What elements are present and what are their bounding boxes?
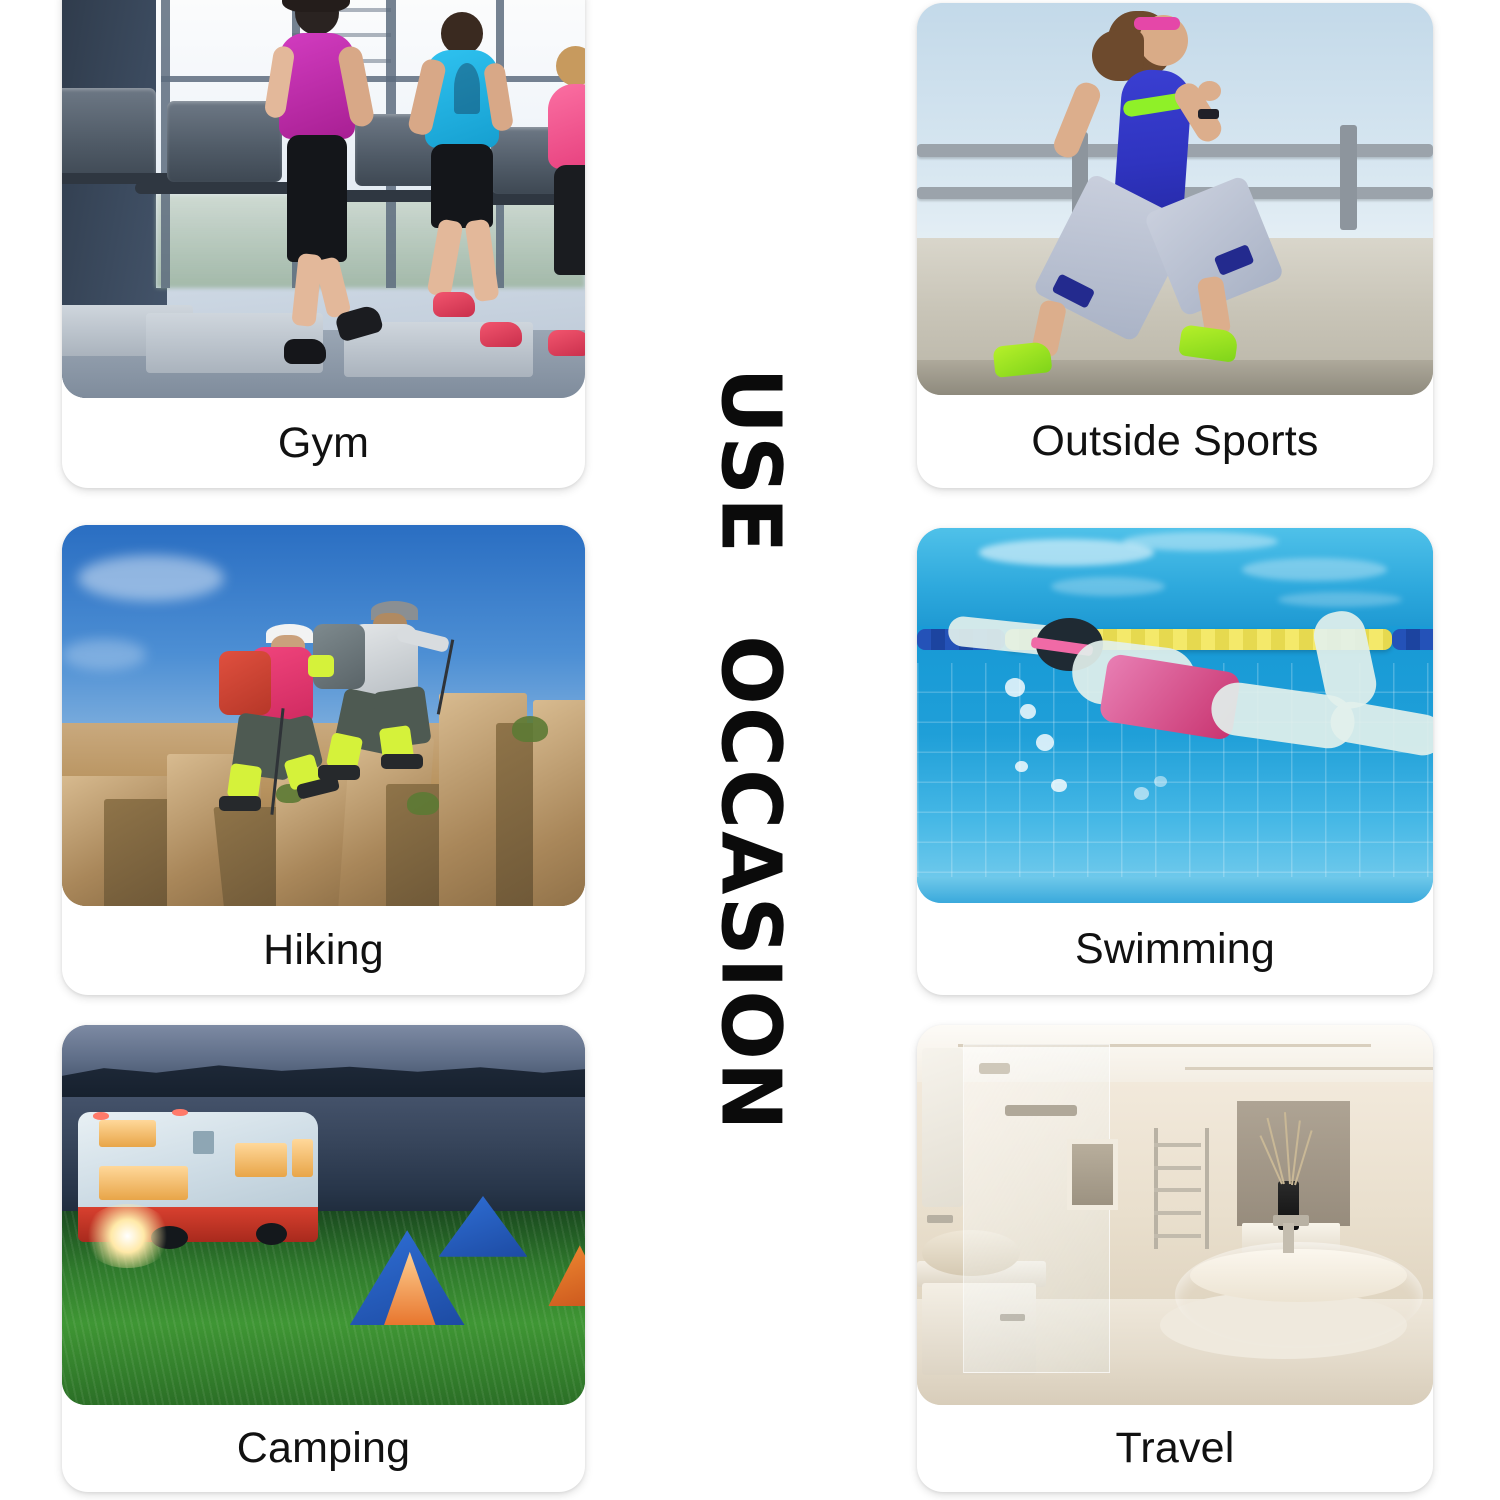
camping-photo [62, 1025, 585, 1405]
title-word-use: USE [703, 367, 798, 555]
travel-photo [917, 1025, 1433, 1405]
occasion-card-swimming[interactable]: Swimming [917, 528, 1433, 995]
gym-photo [62, 0, 585, 398]
occasion-card-outside-sports[interactable]: Outside Sports [917, 3, 1433, 488]
hiking-photo [62, 525, 585, 906]
card-label-camping: Camping [62, 1405, 585, 1492]
card-label-travel: Travel [917, 1405, 1433, 1492]
card-label-gym: Gym [62, 398, 585, 488]
swimming-photo [917, 528, 1433, 903]
card-label-outside-sports: Outside Sports [917, 395, 1433, 488]
occasion-card-gym[interactable]: Gym [62, 0, 585, 488]
title-word-occasion: OCCASION [703, 635, 798, 1132]
occasion-card-hiking[interactable]: Hiking [62, 525, 585, 995]
card-label-swimming: Swimming [917, 903, 1433, 995]
outside-sports-photo [917, 3, 1433, 395]
use-occasion-title: USEOCCASION [703, 367, 798, 1132]
occasion-card-camping[interactable]: Camping [62, 1025, 585, 1492]
card-label-hiking: Hiking [62, 906, 585, 995]
infographic-canvas: Gym [0, 0, 1500, 1500]
occasion-card-travel[interactable]: Travel [917, 1025, 1433, 1492]
